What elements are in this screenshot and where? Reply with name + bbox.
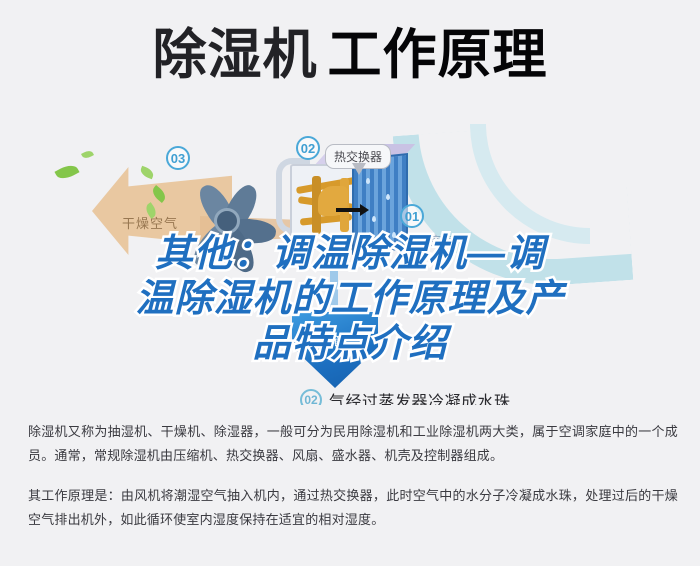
water-droplet-icon xyxy=(386,194,390,200)
step-caption-row: 02 气经过蒸发器冷凝成水珠 xyxy=(300,388,692,405)
water-droplet-icon xyxy=(366,178,370,184)
overlay-headline-line-2: 温除湿机的工作原理及产 xyxy=(0,277,700,322)
step-badge-01: 01 xyxy=(400,204,424,228)
overlay-headline-line-3: 品特点介绍 xyxy=(0,322,700,367)
callout-pointer-icon xyxy=(352,163,366,175)
leaf-icon xyxy=(54,162,79,183)
step-caption-list: 02 气经过蒸发器冷凝成水珠 03 从上部出风口吹出清新干爽空气 xyxy=(300,388,692,405)
step-caption-number: 02 xyxy=(300,389,322,405)
step-badge-02: 02 xyxy=(296,136,320,160)
leaf-icon xyxy=(139,166,155,180)
description-paragraph-1: 除湿机又称为抽湿机、干燥机、除湿器，一般可分为民用除湿机和工业除湿机两大类，属于… xyxy=(28,420,678,468)
poster-page: 除湿机工作原理 干燥空气 xyxy=(0,0,700,566)
overlay-headline: 其他：调温除湿机—调 温除湿机的工作原理及产 品特点介绍 xyxy=(0,232,700,366)
overlay-headline-line-1: 其他：调温除湿机—调 xyxy=(0,232,700,277)
fan-hub xyxy=(214,208,240,234)
step-badge-03: 03 xyxy=(166,146,190,170)
title-topic: 工作原理 xyxy=(328,25,548,85)
description-block: 除湿机又称为抽湿机、干燥机、除湿器，一般可分为民用除湿机和工业除湿机两大类，属于… xyxy=(28,420,678,532)
title-product-name: 除湿机 xyxy=(153,25,318,85)
airflow-arrow-icon xyxy=(336,208,362,212)
description-paragraph-2: 其工作原理是：由风机将潮湿空气抽入机内，通过热交换器，此时空气中的水分子冷凝成水… xyxy=(28,484,678,532)
leaf-icon xyxy=(81,149,94,160)
page-title: 除湿机工作原理 xyxy=(0,28,700,82)
step-caption-text: 气经过蒸发器冷凝成水珠 xyxy=(329,388,511,405)
water-droplet-icon xyxy=(372,216,376,222)
